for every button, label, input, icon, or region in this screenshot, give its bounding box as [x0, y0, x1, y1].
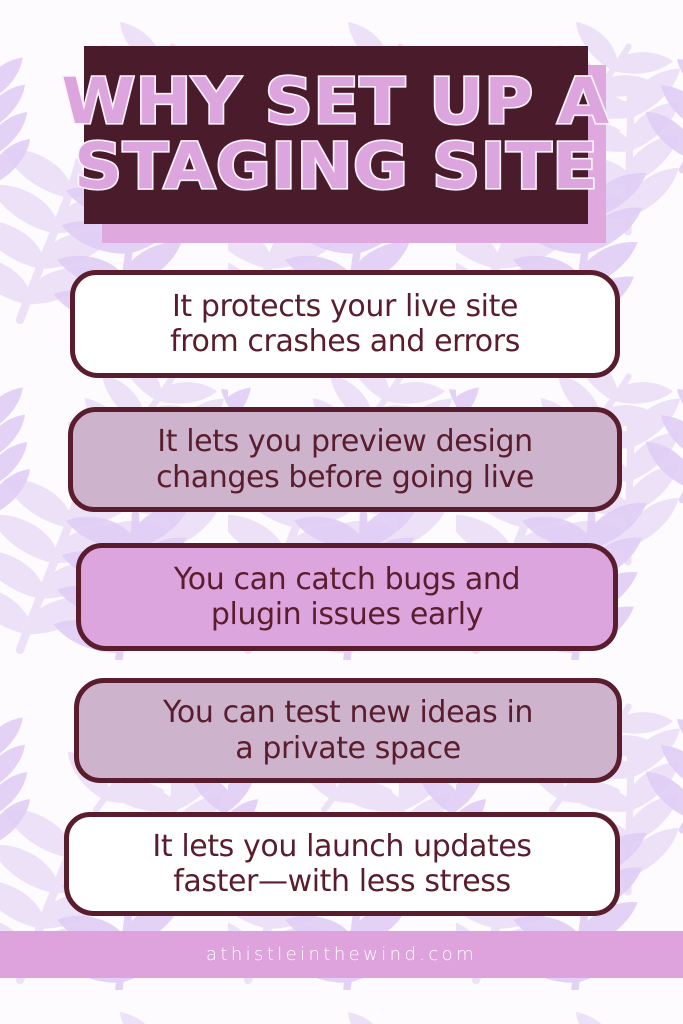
- benefit-card-4-line-2: a private space: [235, 731, 461, 766]
- benefit-card-4: You can test new ideas in a private spac…: [74, 678, 622, 783]
- website-url[interactable]: athistleinthewind.com: [206, 944, 477, 965]
- benefit-card-1: It protects your live site from crashes …: [70, 270, 620, 378]
- benefit-card-3-text: You can catch bugs and plugin issues ear…: [160, 562, 534, 633]
- title-block: WHY SET UP A STAGING SITE: [84, 46, 588, 224]
- benefit-card-5-line-1: It lets you launch updates: [152, 829, 531, 864]
- footer-band: athistleinthewind.com: [0, 931, 683, 978]
- benefit-card-2: It lets you preview design changes befor…: [68, 407, 622, 512]
- benefit-card-5-line-2: faster—with less stress: [173, 864, 511, 899]
- benefit-card-4-line-1: You can test new ideas in: [163, 695, 533, 730]
- benefit-card-1-text: It protects your live site from crashes …: [156, 289, 534, 360]
- benefit-card-1-line-2: from crashes and errors: [170, 324, 520, 359]
- benefit-card-5: It lets you launch updates faster—with l…: [64, 812, 620, 916]
- benefit-card-3: You can catch bugs and plugin issues ear…: [76, 543, 618, 651]
- benefit-card-5-text: It lets you launch updates faster—with l…: [138, 829, 545, 900]
- title-line-2: STAGING SITE: [74, 135, 598, 200]
- benefit-card-3-line-1: You can catch bugs and: [174, 562, 520, 597]
- benefit-card-1-line-1: It protects your live site: [172, 289, 518, 324]
- benefit-card-2-line-2: changes before going live: [156, 460, 534, 495]
- benefit-card-4-text: You can test new ideas in a private spac…: [149, 695, 547, 766]
- benefit-card-2-text: It lets you preview design changes befor…: [142, 424, 548, 495]
- title-line-1: WHY SET UP A: [62, 70, 610, 135]
- title-box: WHY SET UP A STAGING SITE: [84, 46, 588, 224]
- benefit-card-2-line-1: It lets you preview design: [157, 424, 532, 459]
- pinterest-infographic-poster: WHY SET UP A STAGING SITE It protects yo…: [0, 0, 683, 1024]
- benefit-card-3-line-2: plugin issues early: [211, 597, 483, 632]
